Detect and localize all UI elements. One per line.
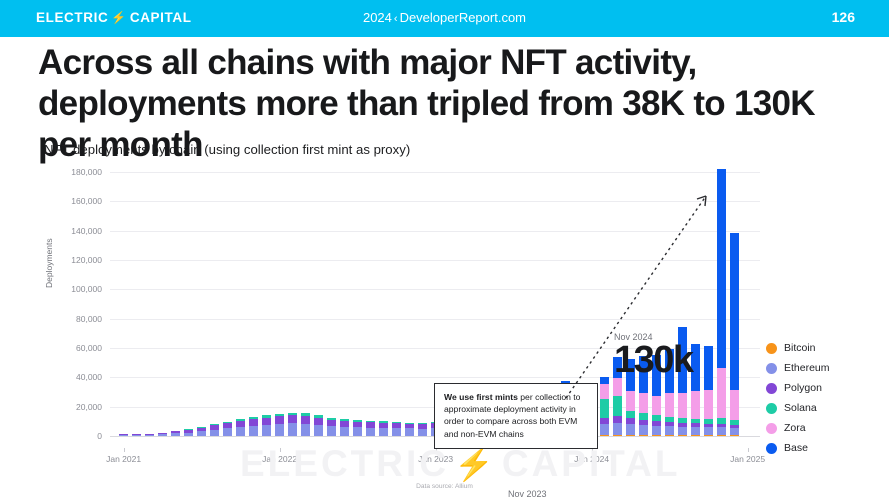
bar-segment-polygon [262, 418, 272, 425]
bar-may-2021[interactable] [171, 431, 181, 436]
chart-legend: BitcoinEthereumPolygonSolanaZoraBase [766, 338, 886, 458]
data-source-footer: Data source: Allium [0, 483, 889, 490]
chart-container: Deployments 020,00040,00060,00080,000100… [0, 160, 889, 470]
bar-sep-2021[interactable] [223, 422, 233, 436]
bar-segment-ethereum [691, 427, 701, 435]
bar-segment-ethereum [665, 426, 675, 435]
legend-swatch-base-icon [766, 443, 777, 454]
gridline [110, 201, 760, 202]
callout-nov-2024: Nov 2024 130k [614, 332, 693, 378]
bar-may-2022[interactable] [327, 418, 337, 436]
gridline [110, 231, 760, 232]
watermark-left: ELECTRIC [240, 443, 449, 485]
bar-segment-ethereum [171, 433, 181, 436]
bar-segment-bitcoin [652, 435, 662, 436]
bar-segment-zora [626, 391, 636, 410]
bar-segment-bitcoin [730, 435, 740, 436]
bar-segment-ethereum [392, 428, 402, 436]
chart-subtitle: NFT deployments by chain (using collecti… [44, 142, 410, 157]
bar-segment-solana [613, 396, 623, 417]
gridline [110, 289, 760, 290]
y-axis-tick-label: 80,000 [40, 314, 102, 324]
bar-segment-ethereum [301, 424, 311, 436]
bar-segment-bitcoin [626, 435, 636, 436]
bar-segment-ethereum [223, 428, 233, 436]
bar-segment-bitcoin [691, 435, 701, 436]
methodology-annotation: We use first mints per collection to app… [434, 383, 598, 449]
bar-oct-2022[interactable] [392, 422, 402, 436]
bar-segment-polygon [288, 415, 298, 423]
bar-segment-polygon [613, 416, 623, 423]
gridline [110, 319, 760, 320]
legend-item-ethereum[interactable]: Ethereum [766, 358, 886, 378]
report-url[interactable]: 2024‹DeveloperReport.com [0, 10, 889, 25]
y-axis-tick-label: 40,000 [40, 372, 102, 382]
watermark: ELECTRIC ⚡ CAPITAL [240, 443, 680, 485]
bar-segment-zora [678, 393, 688, 418]
bar-segment-ethereum [717, 427, 727, 435]
bar-segment-ethereum [626, 424, 636, 435]
bar-segment-ethereum [340, 427, 350, 436]
bar-segment-zora [717, 368, 727, 418]
legend-label: Zora [784, 422, 806, 434]
bar-feb-2021[interactable] [132, 434, 142, 436]
bar-aug-2021[interactable] [210, 424, 220, 436]
bar-apr-2022[interactable] [314, 415, 324, 436]
report-domain: DeveloperReport.com [400, 10, 526, 25]
legend-swatch-solana-icon [766, 403, 777, 414]
bar-mar-2021[interactable] [145, 434, 155, 436]
bar-dec-2021[interactable] [262, 415, 272, 436]
bar-segment-base [717, 169, 727, 368]
bar-jul-2021[interactable] [197, 427, 207, 436]
y-axis-tick-label: 60,000 [40, 343, 102, 353]
slide-page: ELECTRIC ⚡ CAPITAL 2024‹DeveloperReport.… [0, 0, 889, 500]
annotation-bold-lead: We use first mints [444, 392, 518, 402]
bar-segment-zora [600, 384, 610, 399]
bar-segment-ethereum [210, 430, 220, 436]
bar-segment-zora [691, 391, 701, 419]
bar-segment-zora [730, 390, 740, 419]
bar-segment-zora [704, 390, 714, 419]
legend-label: Solana [784, 402, 817, 414]
bar-segment-ethereum [314, 425, 324, 436]
bar-nov-2022[interactable] [405, 423, 415, 436]
bar-segment-ethereum [145, 435, 155, 436]
legend-label: Polygon [784, 382, 822, 394]
bar-segment-bitcoin [678, 435, 688, 436]
legend-label: Ethereum [784, 362, 830, 374]
bar-dec-2024[interactable] [730, 233, 740, 436]
bar-segment-base [730, 233, 740, 390]
bar-segment-ethereum [249, 426, 259, 436]
legend-item-polygon[interactable]: Polygon [766, 378, 886, 398]
bar-segment-ethereum [600, 424, 610, 435]
bar-segment-ethereum [613, 423, 623, 435]
bar-segment-ethereum [704, 427, 714, 435]
bar-sep-2022[interactable] [379, 421, 389, 436]
legend-item-zora[interactable]: Zora [766, 418, 886, 438]
bar-mar-2022[interactable] [301, 413, 311, 436]
bar-segment-polygon [249, 419, 259, 426]
bar-oct-2021[interactable] [236, 419, 246, 436]
legend-item-solana[interactable]: Solana [766, 398, 886, 418]
bar-nov-2024[interactable] [717, 169, 727, 436]
bar-segment-ethereum [184, 433, 194, 436]
bar-segment-bitcoin [717, 435, 727, 436]
bar-segment-ethereum [288, 423, 298, 436]
watermark-bolt-icon: ⚡ [454, 445, 497, 483]
bar-oct-2024[interactable] [704, 346, 714, 436]
bar-segment-polygon [275, 416, 285, 424]
report-year: 2024 [363, 10, 392, 25]
bar-jun-2022[interactable] [340, 419, 350, 436]
y-axis-tick-label: 100,000 [40, 284, 102, 294]
legend-swatch-ethereum-icon [766, 363, 777, 374]
bar-segment-ethereum [639, 425, 649, 435]
bar-segment-ethereum [652, 426, 662, 435]
x-axis-tick [748, 448, 749, 452]
y-axis-tick-label: 0 [40, 431, 102, 441]
bar-jan-2021[interactable] [119, 434, 129, 436]
bar-segment-ethereum [119, 435, 129, 436]
gridline [110, 172, 760, 173]
bar-feb-2024[interactable] [600, 377, 610, 436]
y-axis-tick-label: 160,000 [40, 196, 102, 206]
legend-item-base[interactable]: Base [766, 438, 886, 458]
y-axis-tick-label: 120,000 [40, 255, 102, 265]
x-axis-tick-label: Jan 2025 [730, 454, 765, 464]
bar-segment-solana [626, 411, 636, 419]
bar-segment-bitcoin [613, 435, 623, 436]
bar-apr-2021[interactable] [158, 433, 168, 437]
page-number: 126 [832, 9, 855, 25]
legend-swatch-polygon-icon [766, 383, 777, 394]
chevron-left-icon: ‹ [394, 13, 398, 25]
bar-jun-2021[interactable] [184, 429, 194, 436]
gridline [110, 260, 760, 261]
bar-segment-zora [652, 396, 662, 415]
bar-nov-2021[interactable] [249, 417, 259, 436]
bar-segment-ethereum [262, 425, 272, 436]
legend-swatch-zora-icon [766, 423, 777, 434]
bar-segment-bitcoin [639, 435, 649, 436]
bar-segment-ethereum [418, 429, 428, 436]
watermark-right: CAPITAL [502, 443, 681, 485]
bar-segment-ethereum [197, 431, 207, 436]
y-axis-tick-label: 20,000 [40, 402, 102, 412]
bar-segment-ethereum [730, 428, 740, 435]
y-axis-tick-label: 140,000 [40, 226, 102, 236]
legend-swatch-bitcoin-icon [766, 343, 777, 354]
top-header-bar: ELECTRIC ⚡ CAPITAL 2024‹DeveloperReport.… [0, 0, 889, 37]
legend-item-bitcoin[interactable]: Bitcoin [766, 338, 886, 358]
bar-segment-ethereum [405, 428, 415, 436]
bar-segment-ethereum [366, 428, 376, 437]
legend-label: Base [784, 442, 808, 454]
bar-segment-polygon [301, 416, 311, 424]
bar-segment-bitcoin [665, 435, 675, 436]
bar-segment-solana [600, 399, 610, 418]
bar-segment-ethereum [158, 434, 168, 436]
bar-segment-ethereum [327, 426, 337, 436]
bar-aug-2022[interactable] [366, 421, 376, 436]
bar-segment-ethereum [678, 427, 688, 436]
callout-nov-2024-value: 130k [614, 343, 693, 378]
bar-jan-2022[interactable] [275, 414, 285, 436]
bar-segment-ethereum [353, 427, 363, 436]
bar-segment-bitcoin [704, 435, 714, 436]
bar-segment-zora [639, 393, 649, 414]
bar-feb-2022[interactable] [288, 413, 298, 436]
bar-segment-ethereum [236, 427, 246, 436]
bar-segment-zora [665, 393, 675, 416]
bar-segment-polygon [314, 418, 324, 425]
legend-label: Bitcoin [784, 342, 816, 354]
x-axis-tick [124, 448, 125, 452]
y-axis-tick-label: 180,000 [40, 167, 102, 177]
bar-segment-ethereum [275, 424, 285, 436]
bar-segment-base [704, 346, 714, 390]
bar-dec-2022[interactable] [418, 423, 428, 436]
bar-segment-base [600, 377, 610, 384]
bar-jul-2022[interactable] [353, 420, 363, 436]
bar-segment-ethereum [132, 435, 142, 436]
bar-segment-bitcoin [600, 435, 610, 436]
callout-nov-2023: Nov 2023 38k [508, 489, 559, 500]
bar-segment-ethereum [379, 428, 389, 436]
x-axis-tick-label: Jan 2021 [106, 454, 141, 464]
